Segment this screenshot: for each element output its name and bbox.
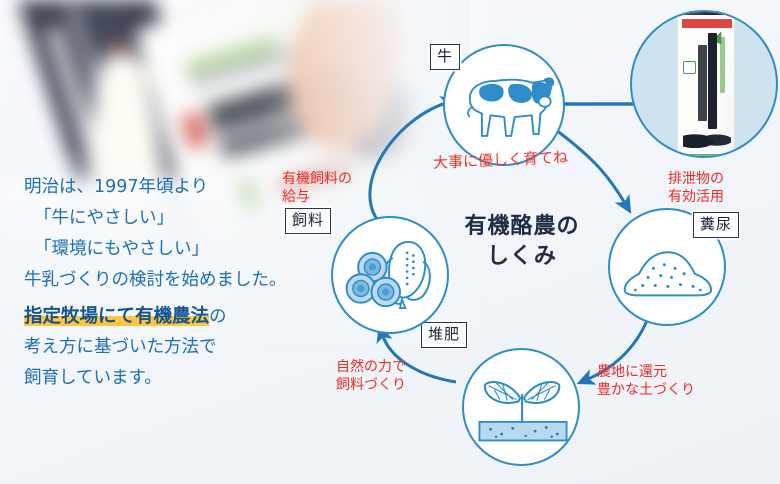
intro-copy: 明治は、1997年頃より 「牛にやさしい」 「環境にもやさしい」 牛乳づくりの検… bbox=[24, 172, 324, 394]
copy-line-3: 「環境にもやさしい」 bbox=[24, 234, 324, 265]
node-soil[interactable] bbox=[462, 348, 580, 466]
annotation-feedmake-line1: 自然の力で bbox=[336, 358, 406, 376]
diagram-title-line-1: 有機酪農の bbox=[447, 212, 597, 242]
node-feed[interactable] bbox=[331, 216, 449, 334]
infographic-canvas: 明治は、1997年頃より 「牛にやさしい」 「環境にもやさしい」 牛乳づくりの検… bbox=[0, 0, 780, 484]
annotation-feedmake-line2: 飼料づくり bbox=[336, 376, 406, 394]
copy-line-1: 明治は、1997年頃より bbox=[24, 172, 324, 203]
corn-hay-icon bbox=[343, 230, 441, 322]
arrow-cow-to-manure bbox=[556, 130, 626, 205]
copy-line-2: 「牛にやさしい」 bbox=[24, 203, 324, 234]
highlight-tail: の bbox=[209, 306, 227, 326]
diagram-title-line-2: しくみ bbox=[447, 242, 597, 272]
copy-highlight-line: 指定牧場にて有機農法の bbox=[24, 302, 324, 328]
annotation-manure: 排泄物の 有効活用 bbox=[668, 170, 724, 206]
label-box-cow: 牛 bbox=[430, 44, 460, 70]
copy-line-6: 飼育しています。 bbox=[24, 363, 324, 394]
label-box-manure: 糞尿 bbox=[693, 212, 739, 238]
annotation-feedmake: 自然の力で 飼料づくり bbox=[336, 358, 406, 394]
label-box-compost: 堆肥 bbox=[421, 322, 467, 348]
node-milk-product[interactable] bbox=[630, 10, 778, 158]
copy-line-5: 考え方に基づいた方法で bbox=[24, 332, 324, 363]
sprout-soil-icon bbox=[472, 366, 574, 450]
diagram-title: 有機酪農の しくみ bbox=[447, 212, 597, 272]
copy-line-4: 牛乳づくりの検討を始めました。 bbox=[24, 265, 324, 296]
manure-pile-icon bbox=[617, 236, 717, 308]
milk-carton-icon bbox=[677, 10, 735, 158]
annotation-soil: 農地に還元 豊かな土づくり bbox=[597, 363, 695, 399]
annotation-manure-line1: 排泄物の bbox=[668, 170, 724, 188]
annotation-soil-line1: 農地に還元 bbox=[597, 363, 695, 381]
cow-icon bbox=[454, 62, 558, 148]
annotation-manure-line2: 有効活用 bbox=[668, 188, 724, 206]
annotation-soil-line2: 豊かな土づくり bbox=[597, 381, 695, 399]
highlighted-phrase: 指定牧場にて有機農法 bbox=[24, 305, 209, 326]
